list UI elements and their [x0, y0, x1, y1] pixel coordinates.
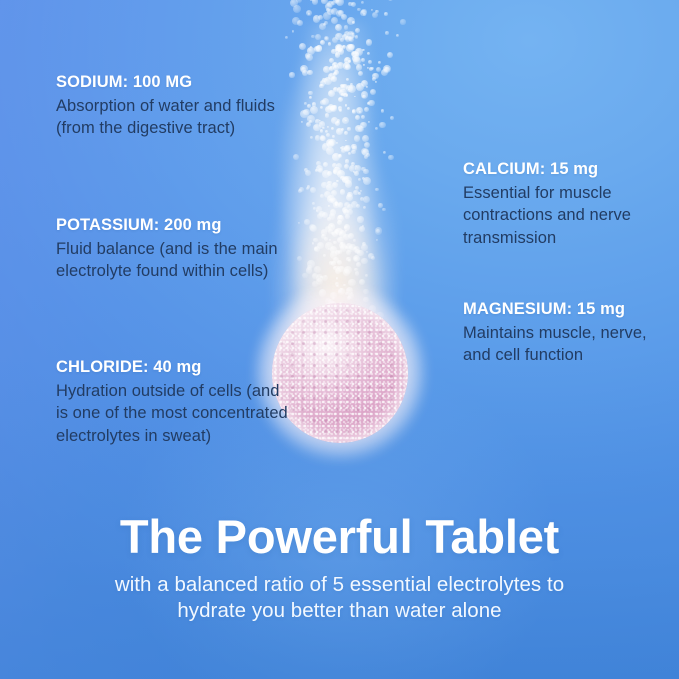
footer-text-block: The Powerful Tablet with a balanced rati…	[0, 512, 679, 625]
nutrient-magnesium: MAGNESIUM: 15 mg Maintains muscle, nerve…	[463, 299, 673, 367]
nutrient-sodium: SODIUM: 100 MG Absorption of water and f…	[56, 72, 288, 140]
nutrient-sodium-description: Absorption of water and fluids (from the…	[56, 95, 288, 140]
headline: The Powerful Tablet	[0, 512, 679, 563]
nutrient-magnesium-heading: MAGNESIUM: 15 mg	[463, 299, 673, 321]
effervescent-tablet	[272, 303, 408, 443]
nutrient-sodium-heading: SODIUM: 100 MG	[56, 72, 288, 94]
nutrient-chloride: CHLORIDE: 40 mg Hydration outside of cel…	[56, 357, 288, 447]
nutrient-chloride-description: Hydration outside of cells (and is one o…	[56, 380, 288, 447]
nutrient-potassium-description: Fluid balance (and is the main electroly…	[56, 238, 288, 283]
electrolyte-infographic: SODIUM: 100 MG Absorption of water and f…	[0, 0, 679, 679]
nutrient-calcium-description: Essential for muscle contractions and ne…	[463, 182, 673, 249]
tablet-sphere	[272, 303, 408, 443]
subheadline: with a balanced ratio of 5 essential ele…	[105, 572, 575, 625]
nutrient-magnesium-description: Maintains muscle, nerve, and cell functi…	[463, 322, 673, 367]
nutrient-calcium: CALCIUM: 15 mg Essential for muscle cont…	[463, 159, 673, 249]
nutrient-chloride-heading: CHLORIDE: 40 mg	[56, 357, 288, 379]
nutrient-potassium-heading: POTASSIUM: 200 mg	[56, 215, 288, 237]
tablet-edge-glow	[272, 303, 408, 443]
nutrient-potassium: POTASSIUM: 200 mg Fluid balance (and is …	[56, 215, 288, 283]
nutrient-calcium-heading: CALCIUM: 15 mg	[463, 159, 673, 181]
